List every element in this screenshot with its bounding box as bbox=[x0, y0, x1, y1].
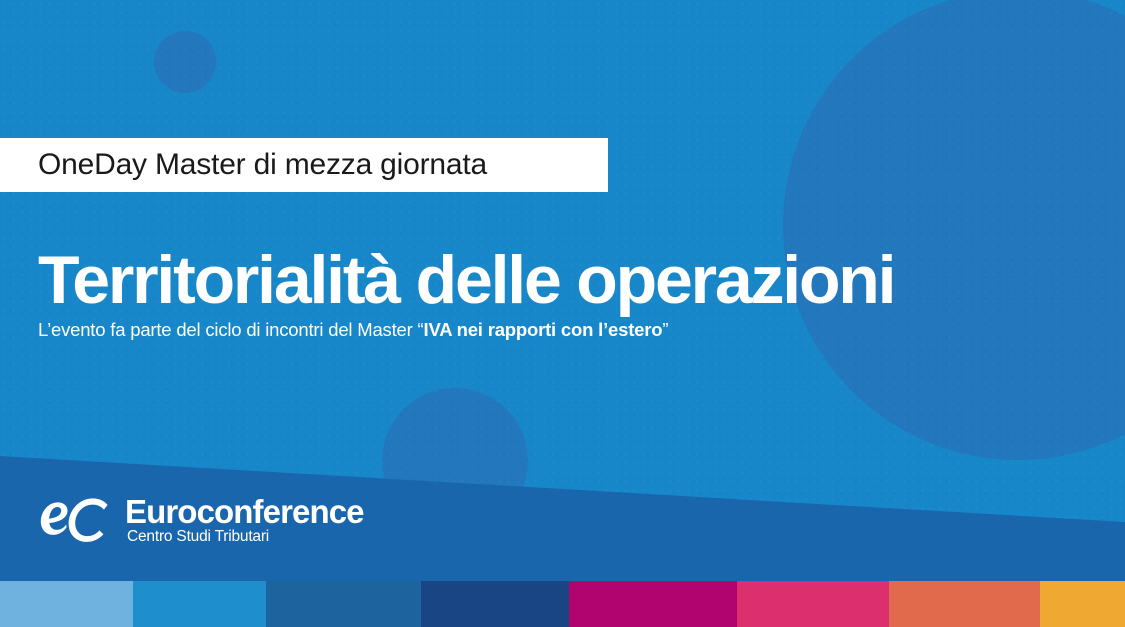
subtitle-emphasis: IVA nei rapporti con l’estero bbox=[424, 319, 663, 340]
brand-name: Euroconference bbox=[125, 495, 364, 529]
color-strip bbox=[0, 581, 1125, 627]
color-swatch-light-blue bbox=[0, 581, 133, 627]
page-title: Territorialità delle operazioni bbox=[38, 246, 894, 314]
subtitle-suffix: ” bbox=[662, 319, 668, 340]
kicker-label: OneDay Master di mezza giornata bbox=[0, 148, 487, 182]
color-swatch-magenta bbox=[569, 581, 737, 627]
color-swatch-amber bbox=[1040, 581, 1125, 627]
brand-wordmark: Euroconference Centro Studi Tributari bbox=[125, 495, 364, 546]
event-banner: OneDay Master di mezza giornata Territor… bbox=[0, 0, 1125, 627]
color-swatch-pink bbox=[737, 581, 889, 627]
color-swatch-navy-blue bbox=[421, 581, 569, 627]
subtitle-prefix: L’evento fa parte del ciclo di incontri … bbox=[38, 319, 424, 340]
subtitle: L’evento fa parte del ciclo di incontri … bbox=[38, 319, 668, 341]
color-swatch-orange bbox=[889, 581, 1040, 627]
brand-tagline: Centro Studi Tributari bbox=[125, 528, 364, 545]
decorative-circle-small bbox=[154, 31, 216, 93]
ec-monogram-icon bbox=[40, 494, 112, 546]
brand-logo: Euroconference Centro Studi Tributari bbox=[40, 494, 364, 546]
color-swatch-sky-blue bbox=[133, 581, 266, 627]
decorative-circle-large bbox=[783, 0, 1125, 460]
kicker-box: OneDay Master di mezza giornata bbox=[0, 138, 608, 192]
color-swatch-steel-blue bbox=[266, 581, 421, 627]
